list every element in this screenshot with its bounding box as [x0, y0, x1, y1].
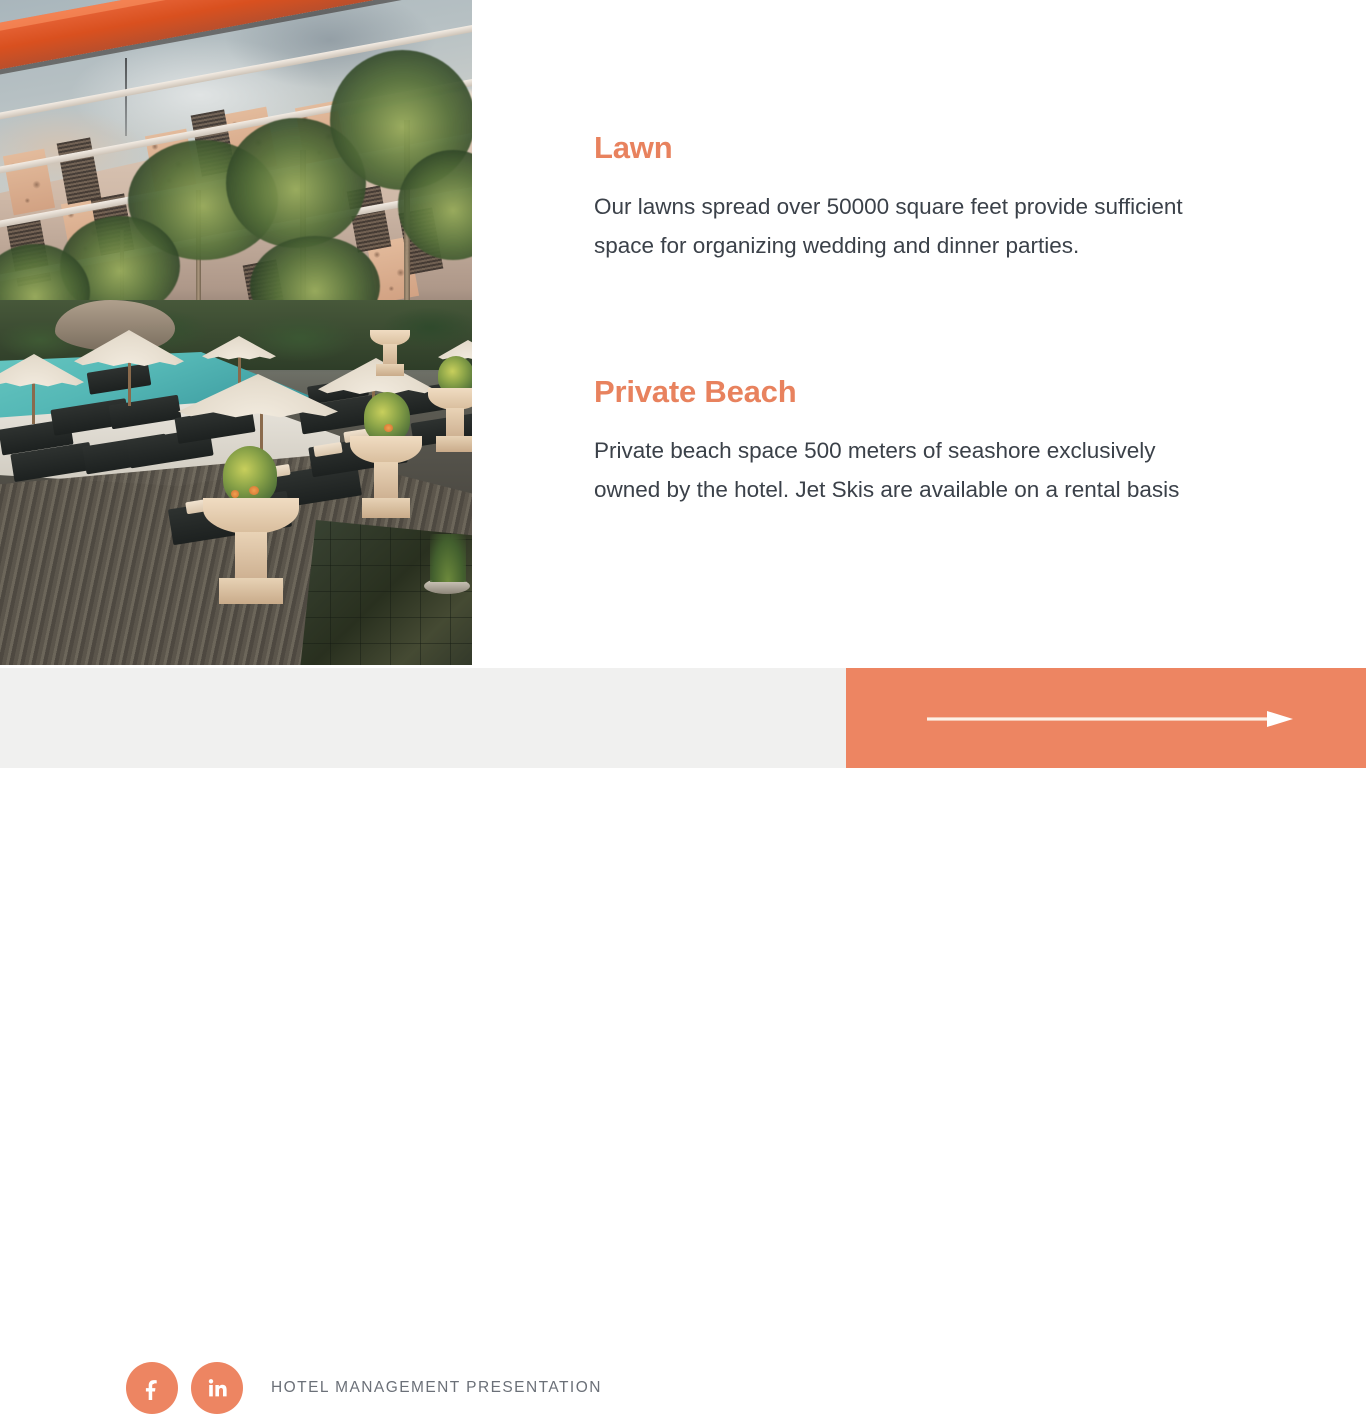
section-title-lawn: Lawn [594, 131, 1194, 165]
slide-content: Lawn Our lawns spread over 50000 square … [594, 0, 1234, 665]
photo-urn-plant [364, 392, 410, 442]
photo-urn-flower [384, 424, 393, 432]
photo-urn-base [376, 364, 404, 376]
photo-urn-base [362, 498, 410, 518]
photo-urn-stem [235, 532, 267, 580]
photo-urn-bowl [350, 436, 422, 464]
photo-urn-planter [203, 492, 299, 616]
footer-presentation-label: HOTEL MANAGEMENT PRESENTATION [271, 1379, 602, 1397]
presentation-slide: Lawn Our lawns spread over 50000 square … [0, 0, 1366, 768]
photo-urn-flower [231, 490, 239, 498]
photo-pot-grass [430, 534, 466, 582]
section-private-beach: Private Beach Private beach space 500 me… [594, 375, 1194, 509]
arrow-right-icon [927, 709, 1293, 729]
photo-urn-base [219, 578, 283, 604]
hotel-resort-photo [0, 0, 472, 665]
photo-urn-bowl [428, 388, 472, 410]
facebook-icon[interactable] [126, 1362, 178, 1414]
section-body-private-beach: Private beach space 500 meters of seasho… [594, 431, 1194, 509]
photo-urn-stem [374, 462, 398, 500]
photo-antenna-mast [125, 58, 127, 136]
photo-urn-stem [446, 408, 464, 438]
photo-urn-planter [350, 432, 422, 532]
social-links [126, 1362, 243, 1414]
photo-urn-planter [428, 386, 472, 462]
next-slide-button[interactable] [846, 668, 1366, 768]
photo-urn-planter [370, 330, 410, 382]
photo-urn-base [436, 436, 472, 452]
section-lawn: Lawn Our lawns spread over 50000 square … [594, 131, 1194, 265]
section-body-lawn: Our lawns spread over 50000 square feet … [594, 187, 1194, 265]
linkedin-icon[interactable] [191, 1362, 243, 1414]
photo-urn-bowl [203, 498, 299, 534]
section-title-private-beach: Private Beach [594, 375, 1194, 409]
photo-urn-stem [383, 344, 397, 366]
photo-urn-flower [249, 486, 259, 495]
